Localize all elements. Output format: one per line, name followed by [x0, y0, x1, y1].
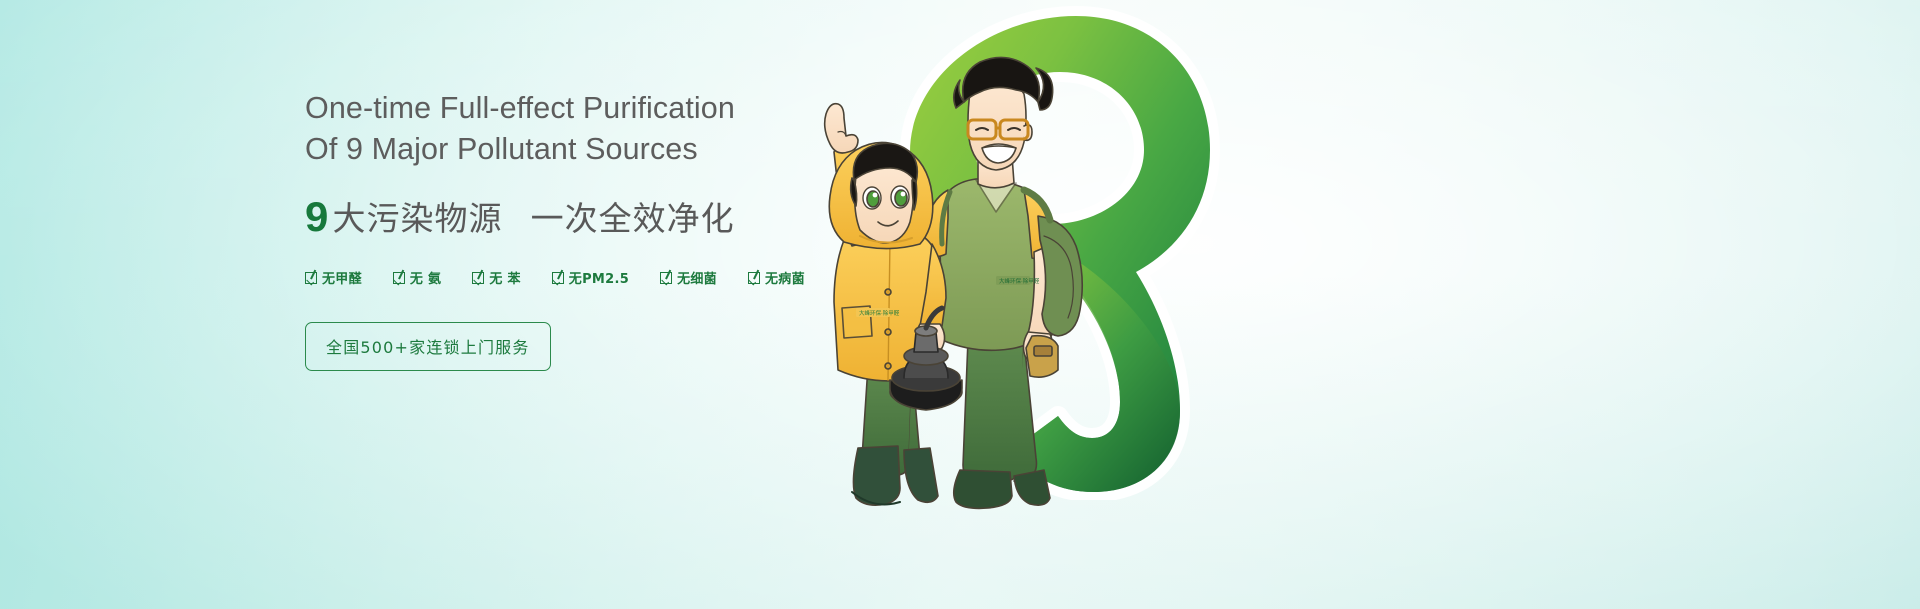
checkbox-checked-icon [472, 272, 484, 284]
feature-item-4: 无PM2.5 [552, 268, 629, 287]
checkbox-checked-icon [393, 272, 405, 284]
feature-list: 无甲醛 无 氨 无 苯 无PM2.5 无细菌 无病菌 [305, 268, 925, 287]
chinese-headline-part2: 一次全效净化 [531, 199, 735, 238]
checkbox-checked-icon [660, 272, 672, 284]
chinese-headline: 9 大污染物源 一次全效净化 [305, 192, 925, 241]
feature-item-2: 无 氨 [393, 268, 441, 287]
banner-text-column: One-time Full-effect Purification Of 9 M… [305, 88, 925, 371]
checkbox-checked-icon [305, 272, 317, 284]
feature-item-1: 无甲醛 [305, 268, 362, 287]
feature-label: 无 氨 [410, 268, 441, 287]
service-coverage-button[interactable]: 全国500+家连锁上门服务 [305, 322, 551, 371]
chinese-headline-part1: 大污染物源 [332, 199, 502, 238]
promo-banner: 大峰环保·除甲醛 [0, 0, 1920, 609]
checkbox-checked-icon [748, 272, 760, 284]
adult-badge-text: 大峰环保·除甲醛 [999, 277, 1040, 285]
english-headline-line2: Of 9 Major Pollutant Sources [305, 129, 925, 170]
feature-item-6: 无病菌 [748, 268, 805, 287]
checkbox-checked-icon [552, 272, 564, 284]
feature-label: 无 苯 [489, 268, 520, 287]
english-headline-line1: One-time Full-effect Purification [305, 88, 925, 129]
feature-item-3: 无 苯 [472, 268, 520, 287]
feature-item-5: 无细菌 [660, 268, 717, 287]
feature-label: 无细菌 [677, 268, 717, 287]
feature-label: 无病菌 [765, 268, 805, 287]
chinese-headline-number: 9 [305, 193, 327, 240]
feature-label: 无PM2.5 [569, 268, 629, 287]
feature-label: 无甲醛 [322, 268, 362, 287]
